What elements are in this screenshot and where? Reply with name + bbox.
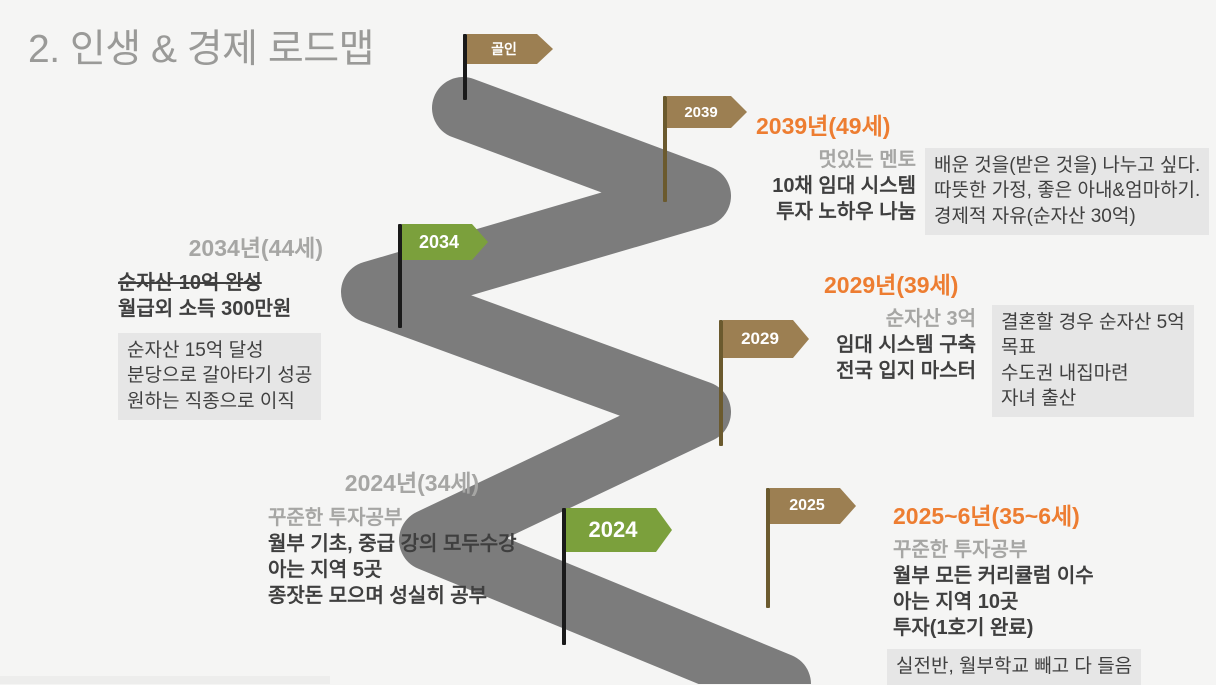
- milestone-2024: 2024년(34세) 꾸준한 투자공부 월부 기초, 중급 강의 모두수강 아는…: [268, 470, 556, 609]
- flag-pole: [766, 488, 770, 608]
- flag-banner: 2024: [566, 508, 672, 552]
- footer-strip: [0, 676, 330, 684]
- milestone-2025: 2025~6년(35~6세) 꾸준한 투자공부 월부 모든 커리큘럼 이수 아는…: [893, 503, 1094, 641]
- milestone-line: 월급외 소득 300만원: [118, 296, 323, 322]
- flag-pole: [463, 34, 467, 100]
- note-line: 자녀 출산: [1001, 386, 1185, 411]
- milestone-2029: 2029년(39세) 순자산 3억 임대 시스템 구축 전국 입지 마스터: [824, 272, 976, 384]
- flag-label: 2029: [741, 329, 779, 349]
- milestone-line: 전국 입지 마스터: [824, 358, 976, 384]
- flag-goal[interactable]: 골인: [463, 34, 553, 64]
- milestone-heading: 2034년(44세): [118, 235, 323, 261]
- flag-label: 2039: [684, 104, 717, 121]
- flag-2025[interactable]: 2025: [766, 488, 856, 524]
- flag-label: 2025: [789, 497, 825, 515]
- milestone-lines: 꾸준한 투자공부 월부 모든 커리큘럼 이수 아는 지역 10곳 투자(1호기 …: [893, 537, 1094, 641]
- milestone-heading: 2029년(39세): [824, 272, 976, 298]
- milestone-lines: 멋있는 멘토 10채 임대 시스템 투자 노하우 나눔: [756, 147, 916, 225]
- note-line: 원하는 직종으로 이직: [127, 389, 312, 414]
- milestone-2034-note: 순자산 15억 달성 분당으로 갈아타기 성공 원하는 직종으로 이직: [118, 333, 321, 420]
- slide-canvas: 2. 인생 & 경제 로드맵 골인 2039 2034 2029 2025: [0, 0, 1216, 684]
- milestone-line: 아는 지역 5곳: [268, 557, 556, 583]
- milestone-line: 월부 모든 커리큘럼 이수: [893, 563, 1094, 589]
- flag-pole: [562, 508, 566, 645]
- milestone-line: 아는 지역 10곳: [893, 589, 1094, 615]
- note-line: 분당으로 갈아타기 성공: [127, 363, 312, 388]
- page-title: 2. 인생 & 경제 로드맵: [28, 18, 374, 74]
- note-line: 경제적 자유(순자산 30억): [934, 204, 1200, 229]
- milestone-line: 꾸준한 투자공부: [893, 537, 1094, 563]
- milestone-heading: 2025~6년(35~6세): [893, 503, 1094, 529]
- milestone-line: 월부 기초, 중급 강의 모두수강: [268, 531, 556, 557]
- milestone-2029-note: 결혼할 경우 순자산 5억 목표 수도권 내집마련 자녀 출산: [992, 305, 1194, 417]
- milestone-line: 투자 노하우 나눔: [756, 199, 916, 225]
- note-line: 수도권 내집마련: [1001, 361, 1185, 386]
- flag-pole: [663, 96, 667, 202]
- milestone-lines: 순자산 3억 임대 시스템 구축 전국 입지 마스터: [824, 306, 976, 384]
- milestone-line: 꾸준한 투자공부: [268, 505, 556, 531]
- milestone-line: 10채 임대 시스템: [756, 173, 916, 199]
- flag-2039[interactable]: 2039: [663, 96, 747, 128]
- flag-pole: [398, 224, 402, 328]
- flag-2029[interactable]: 2029: [719, 320, 809, 358]
- flag-banner: 2039: [667, 96, 747, 128]
- milestone-2025-note: 실전반, 월부학교 빼고 다 들음: [887, 649, 1141, 685]
- flag-2024[interactable]: 2024: [562, 508, 672, 552]
- milestone-2034: 2034년(44세) 순자산 10억 완성 월급외 소득 300만원: [118, 235, 323, 322]
- note-line: 실전반, 월부학교 빼고 다 들음: [896, 654, 1132, 679]
- flag-2034[interactable]: 2034: [398, 224, 488, 260]
- milestone-line: 순자산 3억: [824, 306, 976, 332]
- flag-pole: [719, 320, 723, 446]
- flag-banner: 2029: [723, 320, 809, 358]
- flag-banner: 2034: [402, 224, 488, 260]
- milestone-2039-note: 배운 것을(받은 것을) 나누고 싶다. 따뜻한 가정, 좋은 아내&엄마하기.…: [925, 148, 1209, 235]
- milestone-line: 투자(1호기 완료): [893, 615, 1094, 641]
- note-line: 순자산 15억 달성: [127, 338, 312, 363]
- note-line: 따뜻한 가정, 좋은 아내&엄마하기.: [934, 178, 1200, 203]
- milestone-lines: 꾸준한 투자공부 월부 기초, 중급 강의 모두수강 아는 지역 5곳 종잣돈 …: [268, 505, 556, 609]
- milestone-line: 종잣돈 모으며 성실히 공부: [268, 583, 556, 609]
- milestone-lines: 순자산 10억 완성 월급외 소득 300만원: [118, 270, 323, 322]
- note-line: 배운 것을(받은 것을) 나누고 싶다.: [934, 153, 1200, 178]
- flag-banner: 골인: [467, 34, 553, 64]
- milestone-line: 멋있는 멘토: [756, 147, 916, 173]
- flag-label: 2034: [419, 232, 459, 253]
- milestone-heading: 2039년(49세): [756, 113, 916, 139]
- flag-label: 골인: [491, 39, 517, 59]
- milestone-line: 순자산 10억 완성: [118, 270, 323, 296]
- flag-banner: 2025: [770, 488, 856, 524]
- milestone-heading: 2024년(34세): [268, 470, 556, 496]
- note-line: 결혼할 경우 순자산 5억: [1001, 310, 1185, 335]
- milestone-2039: 2039년(49세) 멋있는 멘토 10채 임대 시스템 투자 노하우 나눔: [756, 113, 916, 225]
- note-line: 목표: [1001, 335, 1185, 360]
- milestone-line: 임대 시스템 구축: [824, 332, 976, 358]
- flag-label: 2024: [589, 517, 638, 543]
